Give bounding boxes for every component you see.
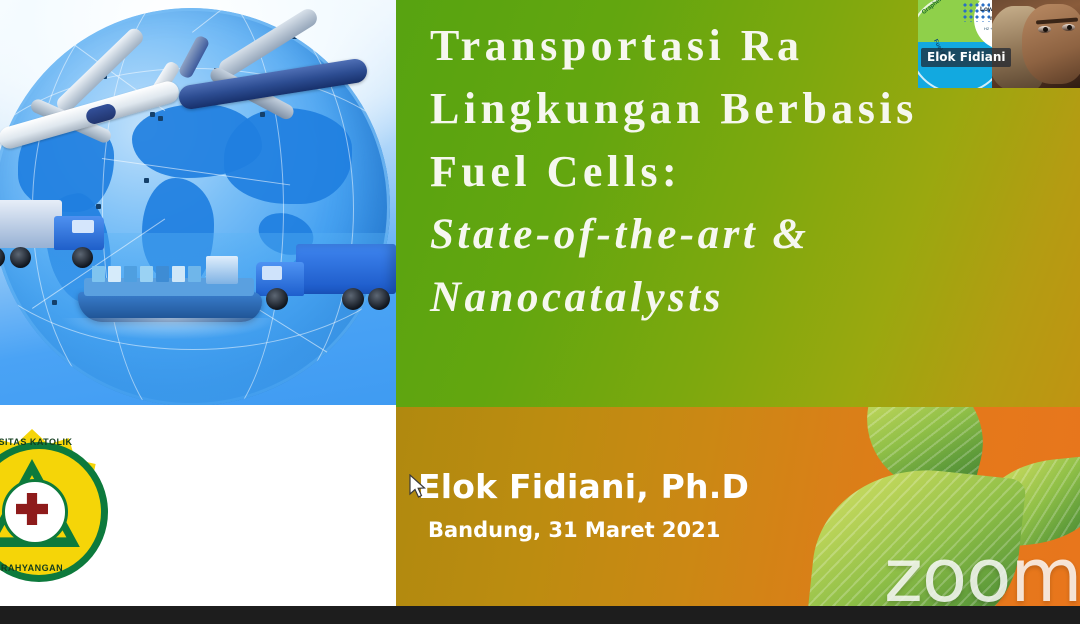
presenter-block: Elok Fidiani, Ph.D Bandung, 31 Maret 202… — [418, 467, 749, 542]
airplane-right-icon — [176, 28, 376, 138]
zoom-screenshare-window: RSITAS KATOLIK RAHYANGAN www — [0, 0, 1080, 624]
presenter-location-date: Bandung, 31 Maret 2021 — [428, 518, 749, 542]
airplane-left-icon — [0, 40, 200, 160]
subtitle-line-2: Nanocatalysts — [430, 266, 1080, 329]
presenter-panel: zoom Elok Fidiani, Ph.D Bandung, 31 Mare… — [396, 407, 1080, 606]
network-node — [52, 300, 57, 305]
universitas-katolik-parahyangan-seal: RSITAS KATOLIK RAHYANGAN — [0, 429, 106, 581]
presentation-slide: RSITAS KATOLIK RAHYANGAN www — [0, 0, 1080, 606]
title-line-3: Fuel Cells: — [430, 140, 1080, 203]
window-bottom-bar — [0, 606, 1080, 624]
seal-text-bottom: RAHYANGAN — [0, 563, 106, 573]
logo-strip: RSITAS KATOLIK RAHYANGAN www — [0, 405, 396, 606]
network-node — [144, 178, 149, 183]
webcam-participant-video — [992, 0, 1080, 88]
subtitle-line-1: State-of-the-art & — [430, 203, 1080, 266]
presenter-name: Elok Fidiani, Ph.D — [418, 467, 749, 506]
seal-text-top: RSITAS KATOLIK — [0, 437, 106, 447]
slide-right-column: zoom Elok Fidiani, Ph.D Bandung, 31 Mare… — [396, 0, 1080, 606]
mouse-cursor — [409, 474, 426, 499]
webcam-participant-name: Elok Fidiani — [921, 48, 1011, 67]
cargo-ship-icon — [78, 252, 262, 328]
zoom-watermark: zoom — [884, 539, 1080, 606]
global-transport-illustration — [0, 0, 396, 405]
webcam-overlay[interactable]: Graphene Low-dim mat Fuel Cell H2 + O2 →… — [918, 0, 1080, 88]
truck-right-icon — [250, 240, 396, 320]
